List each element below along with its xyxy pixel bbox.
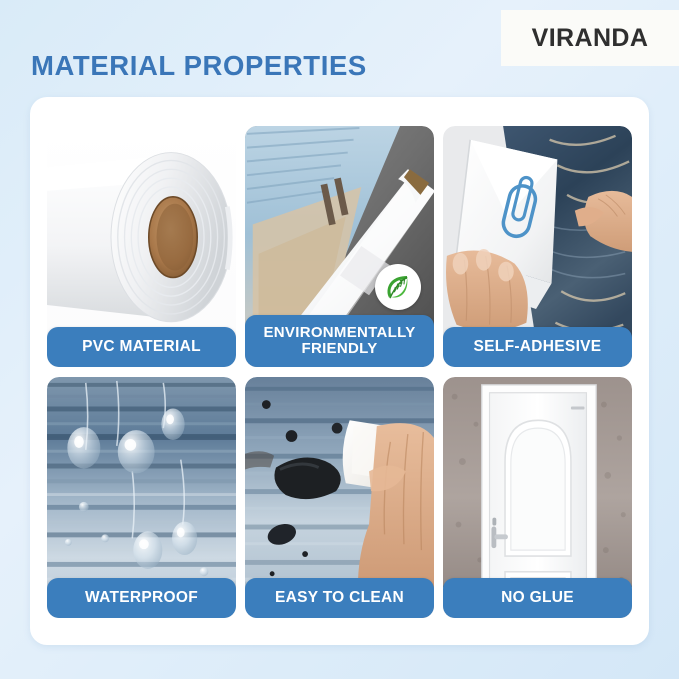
eco-badge <box>375 264 421 310</box>
card-label: NO GLUE <box>443 578 632 618</box>
card-label: ENVIRONMENTALLY FRIENDLY <box>245 315 434 367</box>
green-leaf-icon <box>383 272 413 302</box>
header: MATERIAL PROPERTIES VIRANDA <box>0 0 679 97</box>
page-title: MATERIAL PROPERTIES <box>31 50 367 82</box>
brand-name: VIRANDA <box>532 24 649 53</box>
feature-card-environmentally-friendly[interactable]: ENVIRONMENTALLY FRIENDLY <box>245 126 434 367</box>
feature-card-easy-to-clean[interactable]: EASY TO CLEAN <box>245 377 434 618</box>
card-label: SELF-ADHESIVE <box>443 327 632 367</box>
card-label: PVC MATERIAL <box>47 327 236 367</box>
feature-card-pvc-material[interactable]: PVC MATERIAL <box>47 126 236 367</box>
card-label: WATERPROOF <box>47 578 236 618</box>
feature-card-self-adhesive[interactable]: SELF-ADHESIVE <box>443 126 632 367</box>
feature-card-waterproof[interactable]: WATERPROOF <box>47 377 236 618</box>
brand-logo-box: VIRANDA <box>501 10 679 66</box>
features-panel: PVC MATERIAL <box>30 97 649 645</box>
feature-card-no-glue[interactable]: NO GLUE <box>443 377 632 618</box>
card-label: EASY TO CLEAN <box>245 578 434 618</box>
features-grid: PVC MATERIAL <box>47 126 632 618</box>
